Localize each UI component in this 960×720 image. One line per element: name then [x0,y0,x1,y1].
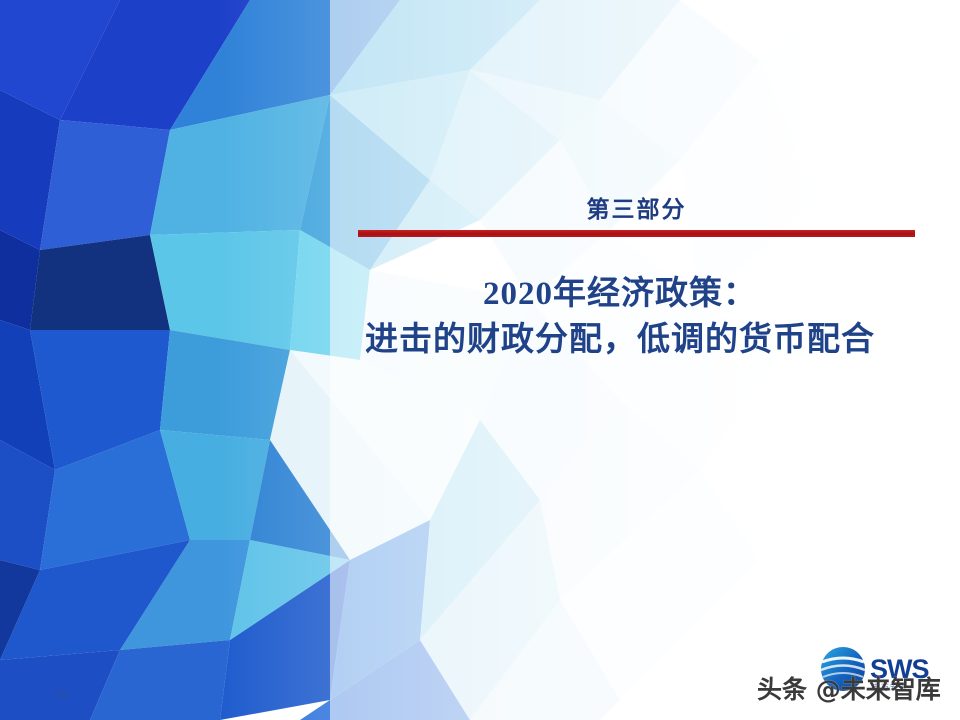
presentation-slide: 第三部分 2020年经济政策： 进击的财政分配，低调的货币配合 81 SWS 申… [0,0,960,720]
page-number: 81 [56,687,69,701]
title-line-2: 进击的财政分配，低调的货币配合 [300,318,940,364]
title-line-1: 2020年经济政策： [300,272,940,318]
slide-title: 2020年经济政策： 进击的财政分配，低调的货币配合 [300,272,940,363]
section-rule [358,230,915,237]
section-divider-block: 第三部分 [358,196,915,237]
section-label: 第三部分 [358,196,915,225]
watermark-text: 头条 @未来智库 [757,670,941,706]
